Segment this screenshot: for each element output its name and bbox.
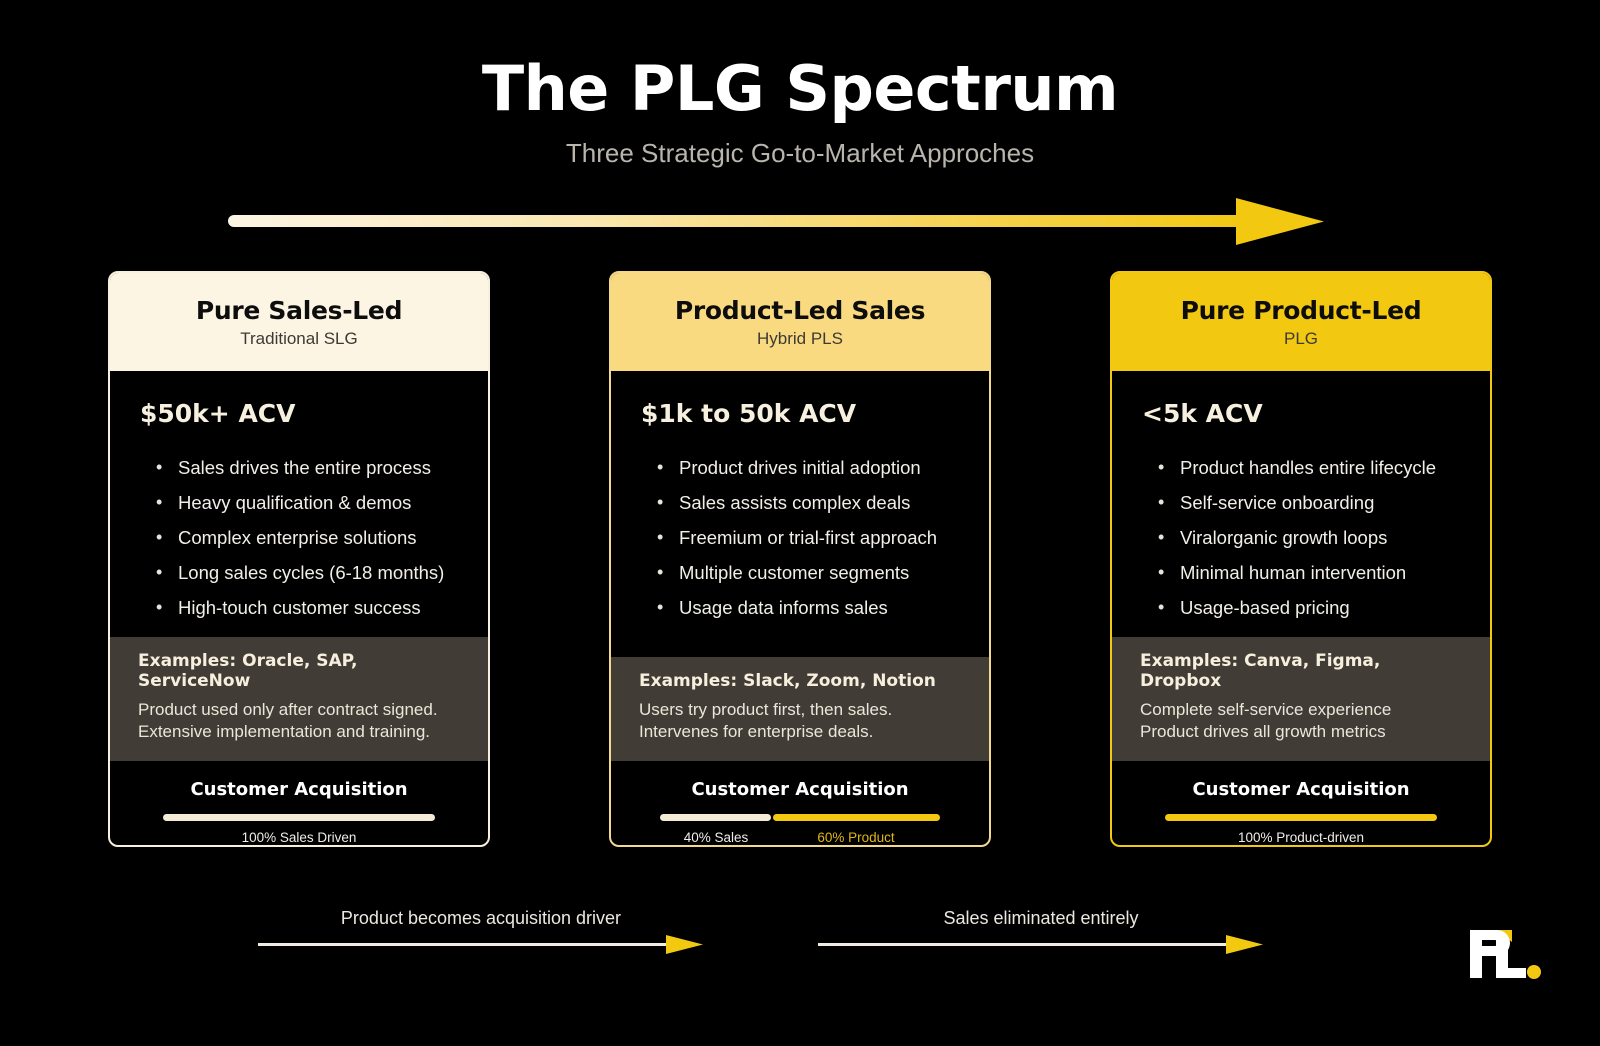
page-subtitle: Three Strategic Go-to-Market Approches [0, 138, 1600, 169]
list-item: Product handles entire lifecycle [1158, 450, 1466, 485]
list-item: Heavy qualification & demos [156, 485, 464, 520]
examples-band: Examples: Oracle, SAP, ServiceNow Produc… [108, 637, 490, 761]
list-item: Sales assists complex deals [657, 485, 965, 520]
examples-band: Examples: Canva, Figma, Dropbox Complete… [1110, 637, 1492, 761]
acquisition-caption: 40% Sales 60% Product [660, 830, 940, 845]
examples-band: Examples: Slack, Zoom, Notion Users try … [609, 657, 991, 761]
right-arrow-icon [818, 932, 1264, 958]
list-item: Freemium or trial-first approach [657, 520, 965, 555]
list-item: Usage-based pricing [1158, 590, 1466, 625]
bottom-arrow-2 [818, 932, 1264, 958]
examples-line: Product drives all growth metrics [1140, 721, 1464, 743]
list-item: Usage data informs sales [657, 590, 965, 625]
acquisition-section: Customer Acquisition 40% Sales 60% Produ… [611, 761, 989, 845]
card-header: Product-Led Sales Hybrid PLS [611, 273, 989, 371]
acquisition-caption-text: 100% Product-driven [1238, 830, 1364, 845]
card-title: Product-Led Sales [675, 296, 925, 325]
acquisition-label: Customer Acquisition [110, 779, 488, 800]
acv-value: $50k+ ACV [140, 399, 464, 428]
bar-segment-product [773, 814, 940, 821]
examples-line: Complete self-service experience [1140, 699, 1464, 721]
card-header: Pure Product-Led PLG [1112, 273, 1490, 371]
acv-value: <5k ACV [1142, 399, 1466, 428]
card-header: Pure Sales-Led Traditional SLG [110, 273, 488, 371]
acquisition-caption-text: 100% Sales Driven [242, 830, 357, 845]
feature-list: Sales drives the entire process Heavy qu… [140, 450, 464, 625]
acquisition-label: Customer Acquisition [1112, 779, 1490, 800]
list-item: Long sales cycles (6-18 months) [156, 555, 464, 590]
bottom-note-2: Sales eliminated entirely [818, 908, 1264, 929]
card-subtitle: Hybrid PLS [757, 329, 843, 349]
infographic-canvas: The PLG Spectrum Three Strategic Go-to-M… [0, 0, 1600, 1046]
acquisition-caption: 100% Product-driven [1161, 830, 1441, 845]
card-body: $1k to 50k ACV Product drives initial ad… [611, 371, 989, 657]
pl-monogram-logo [1456, 908, 1544, 996]
card-pure-product-led[interactable]: Pure Product-Led PLG <5k ACV Product han… [1110, 271, 1492, 847]
acv-value: $1k to 50k ACV [641, 399, 965, 428]
card-title: Pure Sales-Led [196, 296, 402, 325]
card-product-led-sales[interactable]: Product-Led Sales Hybrid PLS $1k to 50k … [609, 271, 991, 847]
acquisition-section: Customer Acquisition 100% Product-driven [1112, 761, 1490, 845]
card-body: $50k+ ACV Sales drives the entire proces… [110, 371, 488, 637]
list-item: Product drives initial adoption [657, 450, 965, 485]
examples-line: Users try product first, then sales. [639, 699, 963, 721]
examples-line: Extensive implementation and training. [138, 721, 462, 743]
examples-title: Examples: Canva, Figma, Dropbox [1140, 651, 1464, 691]
card-body: <5k ACV Product handles entire lifecycle… [1112, 371, 1490, 637]
acquisition-bar [1165, 814, 1437, 821]
examples-title: Examples: Oracle, SAP, ServiceNow [138, 651, 462, 691]
brand-logo [1456, 908, 1544, 996]
bottom-note-1: Product becomes acquisition driver [258, 908, 704, 929]
examples-title: Examples: Slack, Zoom, Notion [639, 671, 963, 691]
list-item: Multiple customer segments [657, 555, 965, 590]
acquisition-section: Customer Acquisition 100% Sales Driven [110, 761, 488, 845]
examples-line: Product used only after contract signed. [138, 699, 462, 721]
acquisition-caption-sales: 40% Sales [660, 830, 772, 845]
card-subtitle: Traditional SLG [240, 329, 357, 349]
acquisition-caption-product: 60% Product [772, 830, 940, 845]
list-item: High-touch customer success [156, 590, 464, 625]
list-item: Self-service onboarding [1158, 485, 1466, 520]
card-title: Pure Product-Led [1181, 296, 1422, 325]
bar-segment-sales [660, 814, 771, 821]
acquisition-bar [163, 814, 435, 821]
acquisition-caption: 100% Sales Driven [159, 830, 439, 845]
card-subtitle: PLG [1284, 329, 1318, 349]
feature-list: Product drives initial adoption Sales as… [641, 450, 965, 625]
list-item: Minimal human intervention [1158, 555, 1466, 590]
feature-list: Product handles entire lifecycle Self-se… [1142, 450, 1466, 625]
card-pure-sales-led[interactable]: Pure Sales-Led Traditional SLG $50k+ ACV… [108, 271, 490, 847]
acquisition-label: Customer Acquisition [611, 779, 989, 800]
list-item: Viralorganic growth loops [1158, 520, 1466, 555]
page-title: The PLG Spectrum [0, 52, 1600, 125]
right-arrow-icon [258, 932, 704, 958]
bar-segment-product [1165, 814, 1437, 821]
list-item: Complex enterprise solutions [156, 520, 464, 555]
bar-segment-sales [163, 814, 435, 821]
examples-line: Intervenes for enterprise deals. [639, 721, 963, 743]
list-item: Sales drives the entire process [156, 450, 464, 485]
cards-row: Pure Sales-Led Traditional SLG $50k+ ACV… [108, 271, 1492, 847]
right-arrow-gradient-icon [228, 196, 1326, 248]
spectrum-arrow [228, 196, 1326, 248]
acquisition-bar [660, 814, 940, 821]
bottom-arrow-1 [258, 932, 704, 958]
